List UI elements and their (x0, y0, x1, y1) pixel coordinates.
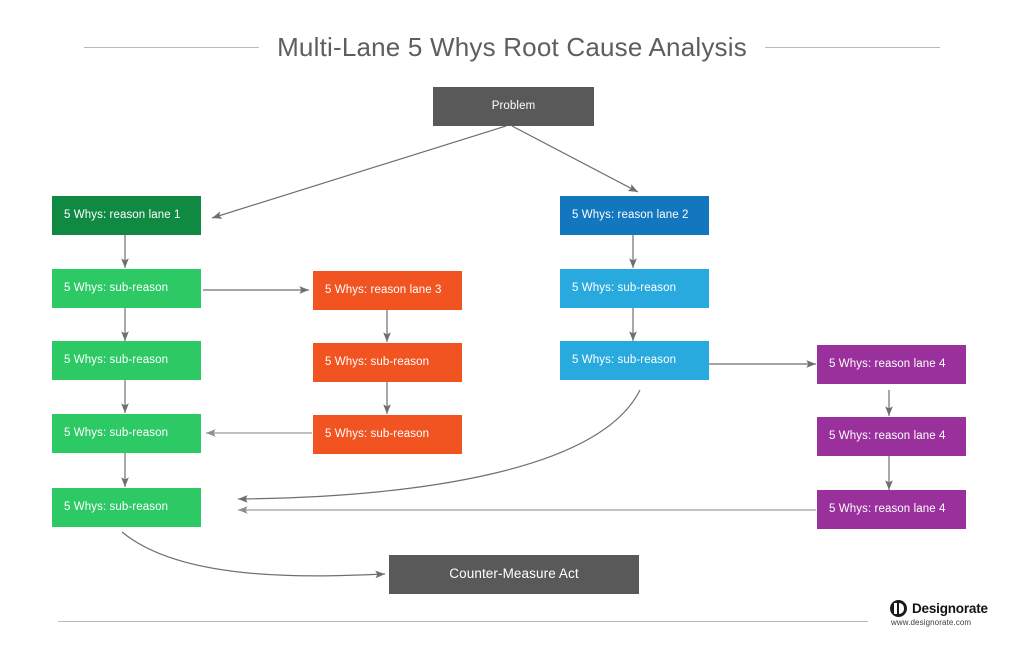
lane-3-box-0[interactable]: 5 Whys: reason lane 3 (313, 271, 462, 310)
lane-1-box-4-label: 5 Whys: sub-reason (64, 501, 168, 515)
lane-4-box-2[interactable]: 5 Whys: reason lane 4 (817, 490, 966, 529)
lane-3-box-0-label: 5 Whys: reason lane 3 (325, 284, 442, 298)
brand-name: Designorate (912, 601, 988, 616)
node-problem-label: Problem (492, 100, 536, 114)
wire-problem-to-lane2 (512, 126, 638, 192)
brand-url: www.designorate.com (891, 618, 1014, 627)
lane-3-box-2[interactable]: 5 Whys: sub-reason (313, 415, 462, 454)
lane-2-box-2[interactable]: 5 Whys: sub-reason (560, 341, 709, 380)
lane-2-box-1-label: 5 Whys: sub-reason (572, 282, 676, 296)
lane-1-box-3[interactable]: 5 Whys: sub-reason (52, 414, 201, 453)
lane-2-box-1[interactable]: 5 Whys: sub-reason (560, 269, 709, 308)
node-counter-measure[interactable]: Counter-Measure Act (389, 555, 639, 594)
lane-4-box-1-label: 5 Whys: reason lane 4 (829, 430, 946, 444)
lane-1-box-3-label: 5 Whys: sub-reason (64, 427, 168, 441)
brand-logo: Designorate www.designorate.com (890, 600, 1014, 627)
lane-1-box-1-label: 5 Whys: sub-reason (64, 282, 168, 296)
lane-1-box-0[interactable]: 5 Whys: reason lane 1 (52, 196, 201, 235)
lane-1-box-4[interactable]: 5 Whys: sub-reason (52, 488, 201, 527)
node-counter-measure-label: Counter-Measure Act (449, 566, 578, 582)
lane-1-box-2-label: 5 Whys: sub-reason (64, 354, 168, 368)
page-title: Multi-Lane 5 Whys Root Cause Analysis (277, 32, 747, 63)
title-row: Multi-Lane 5 Whys Root Cause Analysis (0, 26, 1024, 68)
designorate-logo-icon (890, 600, 907, 617)
lane-1-box-2[interactable]: 5 Whys: sub-reason (52, 341, 201, 380)
lane-1-box-1[interactable]: 5 Whys: sub-reason (52, 269, 201, 308)
lane-2-box-0[interactable]: 5 Whys: reason lane 2 (560, 196, 709, 235)
diagram-canvas: Multi-Lane 5 Whys Root Cause Analysis (0, 0, 1024, 670)
lane-2-box-2-label: 5 Whys: sub-reason (572, 354, 676, 368)
lane-4-box-0-label: 5 Whys: reason lane 4 (829, 358, 946, 372)
lane-2-box-0-label: 5 Whys: reason lane 2 (572, 209, 689, 223)
title-rule-right (765, 47, 940, 48)
lane-3-box-1[interactable]: 5 Whys: sub-reason (313, 343, 462, 382)
wire-problem-to-lane1 (212, 126, 506, 218)
footer-rule (58, 621, 868, 622)
lane-4-box-2-label: 5 Whys: reason lane 4 (829, 503, 946, 517)
lane-1-box-0-label: 5 Whys: reason lane 1 (64, 209, 181, 223)
lane-4-box-1[interactable]: 5 Whys: reason lane 4 (817, 417, 966, 456)
lane-3-box-1-label: 5 Whys: sub-reason (325, 356, 429, 370)
node-problem[interactable]: Problem (433, 87, 594, 126)
lane-4-box-0[interactable]: 5 Whys: reason lane 4 (817, 345, 966, 384)
title-rule-left (84, 47, 259, 48)
wire-lane1-to-countermeasure (122, 532, 385, 576)
lane-3-box-2-label: 5 Whys: sub-reason (325, 428, 429, 442)
brand-top-row: Designorate (890, 600, 1014, 617)
